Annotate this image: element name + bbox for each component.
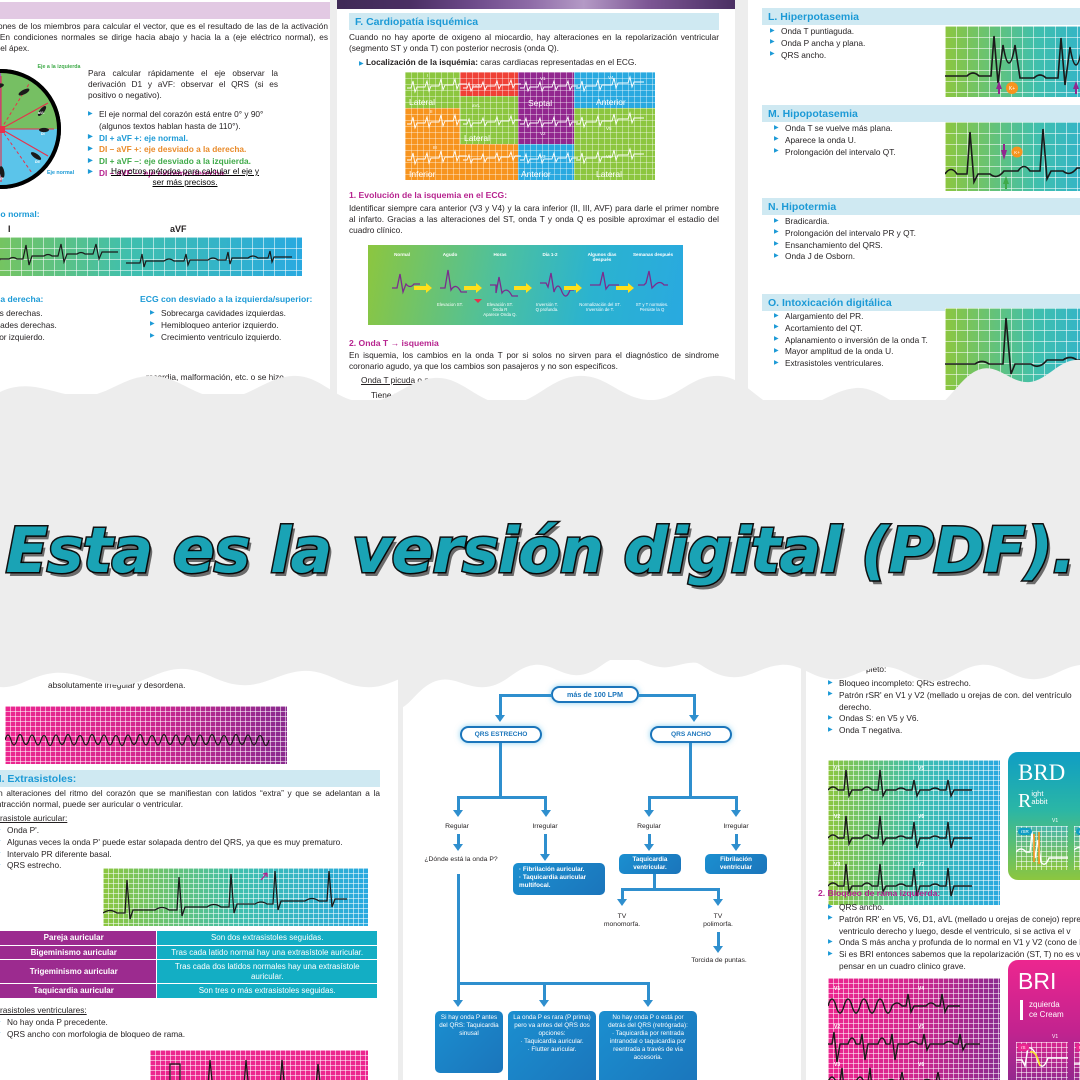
- list-item: Onda T puntiaguda.: [770, 26, 960, 38]
- flow-line: [544, 834, 547, 856]
- evo-stage-label: Normal: [382, 252, 422, 257]
- list-item: Alargamiento del PR.: [774, 311, 974, 323]
- list-item: Onda T negativa.: [828, 725, 1080, 737]
- extrasistoles-table: Pareja auricular Son dos extrasistoles s…: [0, 930, 378, 999]
- card-bri-tag-2: R: [1076, 1044, 1080, 1051]
- ischemia-evolution-timeline: Normal Agudo Horas Día 1-2 Algunos días …: [368, 245, 683, 325]
- list-extrasistole-auricular: Onda P'. Algunas veces la onda P' puede …: [0, 825, 381, 872]
- svg-text:V3: V3: [834, 862, 840, 868]
- page-gap-left: [398, 660, 403, 1080]
- list-item: QRS ancho.: [770, 50, 960, 62]
- card-brd-tag-2: qRS: [1076, 828, 1080, 835]
- top-decorative-strip: [337, 0, 735, 9]
- list-item: Aparece la onda U.: [774, 135, 964, 147]
- mosaic-lead: V5: [606, 126, 612, 131]
- table-cell-value: Tras cada latido normal hay una extrasís…: [157, 945, 378, 960]
- flow-line: [457, 874, 460, 984]
- mosaic-cell: II: [405, 108, 460, 144]
- mosaic-lead: V6: [606, 154, 612, 159]
- torn-edge-bottom-right: [690, 655, 1080, 715]
- table-cell-key: Bigeminismo auricular: [0, 945, 157, 960]
- svg-text:V5: V5: [918, 766, 924, 772]
- card-brd-tag-1: rSR: [1018, 828, 1032, 835]
- mosaic-region: Lateral: [596, 169, 622, 179]
- list-item: recarga cavidades derechas.: [0, 308, 96, 320]
- mosaic-cell: V6 Lateral: [574, 144, 655, 180]
- flow-line: [457, 982, 460, 1002]
- card-bri-ecg-2: R: [1074, 1042, 1080, 1080]
- mosaic-region: Anterior: [521, 169, 551, 179]
- mosaic-region: Lateral: [409, 97, 435, 107]
- list-extrasistoles-ventriculares: No hay onda P precedente. QRS ancho con …: [0, 1017, 381, 1041]
- card-bri: BRI zquierda ce Cream V1 rS R: [1008, 960, 1080, 1080]
- sub-extrasistole-auricular: Extrasistole auricular:: [0, 813, 67, 824]
- card-brd: BRD R ight abbit V1 rSR qRS: [1008, 752, 1080, 880]
- flow-arrow: [713, 899, 723, 906]
- svg-text:V2: V2: [834, 1024, 840, 1030]
- flow-line: [499, 743, 502, 798]
- list-item: DI + aVF +: eje normal.: [88, 133, 280, 145]
- svg-text:K+: K+: [1014, 150, 1020, 155]
- evo-stage-label: Algunos días después: [578, 252, 626, 262]
- sub-bloqueo-rama-izquierda: 2. Bloqueo de rama izquierda:: [818, 888, 940, 898]
- table-row: Pareja auricular Son dos extrasistoles s…: [0, 931, 378, 946]
- card-brd-subtitle: R ight abbit: [1018, 790, 1048, 813]
- flow-arrow: [453, 810, 463, 817]
- mosaic-lead: V2: [540, 131, 546, 136]
- list-item: Bradicardia.: [774, 216, 1024, 228]
- flow-line: [621, 888, 719, 891]
- list-item: Ondas S: en V5 y V6.: [828, 713, 1080, 725]
- list-item: QRS ancho con morfologia de bloqueo de r…: [0, 1029, 381, 1041]
- flow-label-irregular-left: Irregular: [518, 823, 572, 830]
- strip-header: eje eléctrico normal:: [0, 209, 40, 219]
- mosaic-cell: V2: [518, 108, 574, 144]
- extrasistoles-intro: Son alteraciones del ritmo del corazón q…: [0, 788, 380, 810]
- flow-line: [457, 796, 547, 799]
- flow-arrow: [643, 1000, 653, 1007]
- section-header-extrasistoles: H. Extrasistoles:: [0, 770, 380, 787]
- flow-label-regular-right: Regular: [622, 823, 676, 830]
- evo-stage-desc: Inversión T. Q profunda.: [524, 302, 570, 312]
- card-brd-title: BRD: [1018, 760, 1065, 786]
- ecg-extrasistoles-ventriculares: [150, 1050, 368, 1080]
- mosaic-lead: V3: [540, 154, 546, 159]
- list-hipopotasemia: Onda T se vuelve más plana. Aparece la o…: [774, 123, 964, 158]
- evo-stage-label: Agudo: [430, 252, 470, 257]
- flow-box-sin-onda-p: No hay onda P o está por detrás del QRS …: [599, 1011, 697, 1080]
- table-cell-key: Taquicardia auricular: [0, 984, 157, 999]
- evo-stage-desc: ST y T normales. Persiste la Q: [626, 302, 678, 312]
- card-bri-title: BRI: [1018, 968, 1056, 995]
- list-hiperpotasemia: Onda T puntiaguda. Onda P ancha y plana.…: [770, 26, 960, 61]
- flow-label-question-onda-p: ¿Dónde está la onda P?: [413, 856, 509, 863]
- col-right-list: Sobrecarga cavidades izquierdas. Hemiblo…: [150, 308, 325, 343]
- mosaic-lead: II: [430, 109, 433, 114]
- list-item: Patrón RR' en V5, V6, D1, aVL (mellado u…: [828, 914, 1080, 938]
- list-item: Prolongación del intervalo PR y QT.: [774, 228, 1024, 240]
- flow-arrow: [453, 1000, 463, 1007]
- mosaic-region: Lateral: [464, 133, 490, 143]
- svg-text:V1: V1: [834, 766, 840, 772]
- ecg-hipopotasemia: K+ K+: [945, 122, 1080, 191]
- flow-arrow: [731, 810, 741, 817]
- left-right-text: Para calcular rápidamente el eje observa…: [88, 68, 278, 101]
- left-page-top: eléctrico las derivaciones de los miembr…: [0, 0, 330, 394]
- table-cell-key: Pareja auricular: [0, 931, 157, 946]
- evo-stage-desc: Elevacion ST.: [424, 302, 476, 307]
- col-left-title: desviación a la derecha:: [0, 294, 43, 304]
- mosaic-cell: V5: [574, 108, 655, 144]
- axis-note: Hay otros métodos para calcular el eje y…: [110, 166, 260, 188]
- svg-text:aVL: aVL: [38, 111, 45, 115]
- mosaic-lead: aVL: [472, 103, 480, 108]
- svg-text:DI: DI: [41, 132, 45, 136]
- list-item: Onda T se vuelve más plana.: [774, 123, 964, 135]
- ecg-extrasistole-auricular: [103, 868, 368, 926]
- flow-line: [543, 982, 546, 1002]
- flow-arrow: [453, 844, 463, 851]
- ecg-strip-axis-normal: [0, 237, 302, 276]
- svg-text:V5: V5: [918, 1024, 924, 1030]
- flow-box-taquicardia-sinusal: Si hay onda P antes del QRS: Taquicardia…: [435, 1011, 503, 1073]
- bullet-localizacion-rest: caras cardiacas representadas en el ECG.: [478, 57, 637, 67]
- table-cell-value: Son tres o más extrasistoles seguidas.: [157, 984, 378, 999]
- svg-text:V1: V1: [834, 986, 840, 992]
- list-item: Onda J de Osborn.: [774, 251, 1024, 263]
- mosaic-lead: III: [433, 145, 437, 150]
- evo-stage-desc: Elevación ST. Onda R Aparece Onda Q.: [474, 302, 526, 317]
- torn-edge-top: [0, 340, 1080, 450]
- list-item: Prolongación del intervalo QT.: [774, 147, 964, 159]
- card-bri-tag-1: rS: [1018, 1044, 1029, 1051]
- strip-label-I: I: [8, 224, 11, 234]
- mosaic-cell: aVL Lateral: [460, 96, 518, 144]
- card-brd-r: R: [1018, 790, 1031, 812]
- wheel-label-left: Eje a la izquierda: [36, 64, 82, 70]
- svg-text:DII: DII: [35, 160, 40, 164]
- svg-text:V2: V2: [834, 814, 840, 820]
- svg-text:V6: V6: [918, 1062, 924, 1068]
- list-item: Sobrecarga cavidades izquierdas.: [150, 308, 325, 320]
- mosaic-region: Inferior: [409, 169, 435, 179]
- evo-stage-label: Horas: [480, 252, 520, 257]
- card-bri-ecg-1: rS: [1016, 1042, 1068, 1080]
- evo-stage-desc: Normalización del ST. Inversión de T.: [566, 302, 634, 312]
- list-item: Onda S más ancha y profunda de lo normal…: [828, 937, 1080, 949]
- mosaic-cell: V3 Anterior: [518, 144, 574, 180]
- mosaic-lead: aVR: [472, 83, 481, 88]
- ecg-bloqueo-rama-izquierda: V1V4 V2V5 V3V6: [828, 978, 1000, 1080]
- flow-line: [457, 982, 649, 985]
- watermark-text: Esta es la versión digital (PDF).: [0, 500, 1080, 600]
- flow-arrow: [539, 1000, 549, 1007]
- card-bri-ice-cream: ce Cream: [1029, 1010, 1064, 1020]
- page-gap-top-right: [735, 0, 748, 400]
- mosaic-lead: V4: [608, 75, 614, 80]
- ischemia-localisation-mosaic: I Lateral aVR V1 Septal V4 Anterior II a…: [405, 72, 655, 180]
- wheel-label-normal: Eje normal: [47, 170, 74, 176]
- torn-edge-bottom-left: [0, 655, 420, 735]
- flow-label-tv-polimorfa: TV polimorfa.: [687, 913, 749, 930]
- section-header-hiperpotasemia: L. Hiperpotasemia: [762, 8, 1080, 25]
- list-item: DI – aVF +: eje desviado a la derecha.: [88, 144, 280, 156]
- card-bri-izquierda: zquierda: [1029, 1000, 1064, 1010]
- mosaic-region: Septal: [528, 98, 552, 108]
- svg-text:V7: V7: [918, 862, 924, 868]
- flow-label-regular-left: Regular: [430, 823, 484, 830]
- mosaic-cell: III Inferior: [405, 144, 518, 180]
- list-item: Algunas veces la onda P' puede estar sol…: [0, 837, 381, 849]
- flow-label-torcida-de-puntas: Torcida de puntas.: [671, 957, 767, 964]
- flow-arrow: [541, 810, 551, 817]
- list-item: Acortamiento del QT.: [774, 323, 974, 335]
- mid-para-1: Identificar siempre cara anterior (V3 y …: [349, 203, 719, 236]
- list-item: QRS ancho.: [828, 902, 1080, 914]
- table-row: Bigeminismo auricular Tras cada latido n…: [0, 945, 378, 960]
- mosaic-cell: aVR: [460, 72, 518, 96]
- svg-text:V3: V3: [834, 1062, 840, 1068]
- table-row: Taquicardia auricular Son tres o más ext…: [0, 984, 378, 999]
- mid-intro: Cuando no hay aporte de oxigeno al mioca…: [349, 32, 719, 54]
- ecg-bloqueo-rama-derecha: V1V5 V2V6 V3V7: [828, 760, 1000, 905]
- ecg-hiperpotasemia: K+ K+: [945, 26, 1080, 97]
- table-cell-value: Son dos extrasistoles seguidas.: [157, 931, 378, 946]
- bottom-right-page: pleto: Bloqueo incompleto: QRS estrecho.…: [806, 660, 1080, 1080]
- section-header-hipopotasemia: M. Hipopotasemia: [762, 105, 1080, 122]
- mosaic-lead: V1: [540, 76, 546, 81]
- mosaic-cell: I Lateral: [405, 72, 460, 108]
- page-gap-top-left: [330, 0, 337, 400]
- flow-arrow: [617, 899, 627, 906]
- left-page-header: eléctrico: [0, 2, 330, 19]
- card-brd-abbit: abbit: [1031, 798, 1047, 806]
- list-item: No hay onda P precedente.: [0, 1017, 381, 1029]
- list-item: Intervalo PR diferente basal.: [0, 849, 381, 861]
- flow-line: [647, 982, 650, 1002]
- section-header-hipotermia: N. Hipotermia: [762, 198, 1080, 215]
- list-item: El eje normal del corazón está entre 0° …: [88, 109, 280, 133]
- mid-page-header: F. Cardiopatía isquémica: [349, 13, 719, 30]
- table-cell-value: Tras cada dos latidos normales hay una e…: [157, 960, 378, 984]
- card-bri-lead: V1: [1052, 1034, 1058, 1040]
- col-left-list: recarga cavidades derechas. cimiento de …: [0, 308, 96, 343]
- strip-label-aVF: aVF: [170, 224, 187, 234]
- mid-sub-1: 1. Evolución de la isquemia en el ECG:: [349, 190, 507, 200]
- flow-label-irregular-right: Irregular: [709, 823, 763, 830]
- mosaic-lead: I: [427, 73, 428, 78]
- bullet-localizacion: ▶ Localización de la isquémia: caras car…: [359, 57, 719, 67]
- flow-box-fibrilacion-ventricular: Fibrilación ventricular: [705, 854, 767, 874]
- torn-edge-bottom-mid: [398, 655, 698, 745]
- flow-arrow: [540, 854, 550, 861]
- evo-stage-label: Día 1-2: [530, 252, 570, 257]
- list-item: cimiento de cavidades derechas.: [0, 320, 96, 332]
- mosaic-cell: V4 Anterior: [574, 72, 655, 108]
- mosaic-region: Anterior: [596, 97, 626, 107]
- flow-label-tv-monomorfa: TV monomorfa.: [591, 913, 653, 930]
- sub-extrasistoles-ventriculares: Extrasistoles ventriculares:: [0, 1005, 87, 1016]
- table-cell-key: Trigeminismo auricular: [0, 960, 157, 984]
- flow-arrow: [644, 844, 654, 851]
- col-right-title: ECG con desviado a la izquierda/superior…: [140, 294, 312, 304]
- table-row: Trigeminismo auricular Tras cada dos lat…: [0, 960, 378, 984]
- flow-box-taquicardia-ventricular: Taquicardia ventricular.: [619, 854, 681, 874]
- flow-box-onda-p-rara: La onda P es rara (P prima) pero va ante…: [508, 1011, 596, 1080]
- flow-line: [648, 796, 738, 799]
- card-bri-subtitle: zquierda ce Cream: [1020, 1000, 1064, 1020]
- left-intro-paragraph: las derivaciones de los miembros para ca…: [0, 21, 328, 54]
- card-brd-ecg-2: qRS: [1074, 826, 1080, 870]
- list-item: Ensanchamiento del QRS.: [774, 240, 1024, 252]
- flow-box-fibrilacion-auricular: · Fibrilación auricular. · Taquicardia a…: [513, 863, 605, 895]
- flow-arrow: [731, 844, 741, 851]
- page-gap-right: [801, 660, 806, 1080]
- evo-stage-label: Semanas después: [630, 252, 676, 257]
- list-item: Onda P'.: [0, 825, 381, 837]
- flow-line: [689, 743, 692, 798]
- list-item: Hemibloqueo anterior izquierdo.: [150, 320, 325, 332]
- svg-text:V6: V6: [918, 814, 924, 820]
- flow-arrow: [713, 946, 723, 953]
- svg-text:V4: V4: [918, 986, 924, 992]
- list-item: Onda P ancha y plana.: [770, 38, 960, 50]
- svg-text:K+: K+: [1009, 86, 1015, 92]
- list-hipotermia: Bradicardia. Prolongación del intervalo …: [774, 216, 1024, 263]
- flow-arrow: [644, 810, 654, 817]
- bullet-localizacion-bold: Localización de la isquémia:: [366, 57, 478, 67]
- card-brd-ecg-1: rSR: [1016, 826, 1068, 870]
- card-brd-lead: V1: [1052, 818, 1058, 824]
